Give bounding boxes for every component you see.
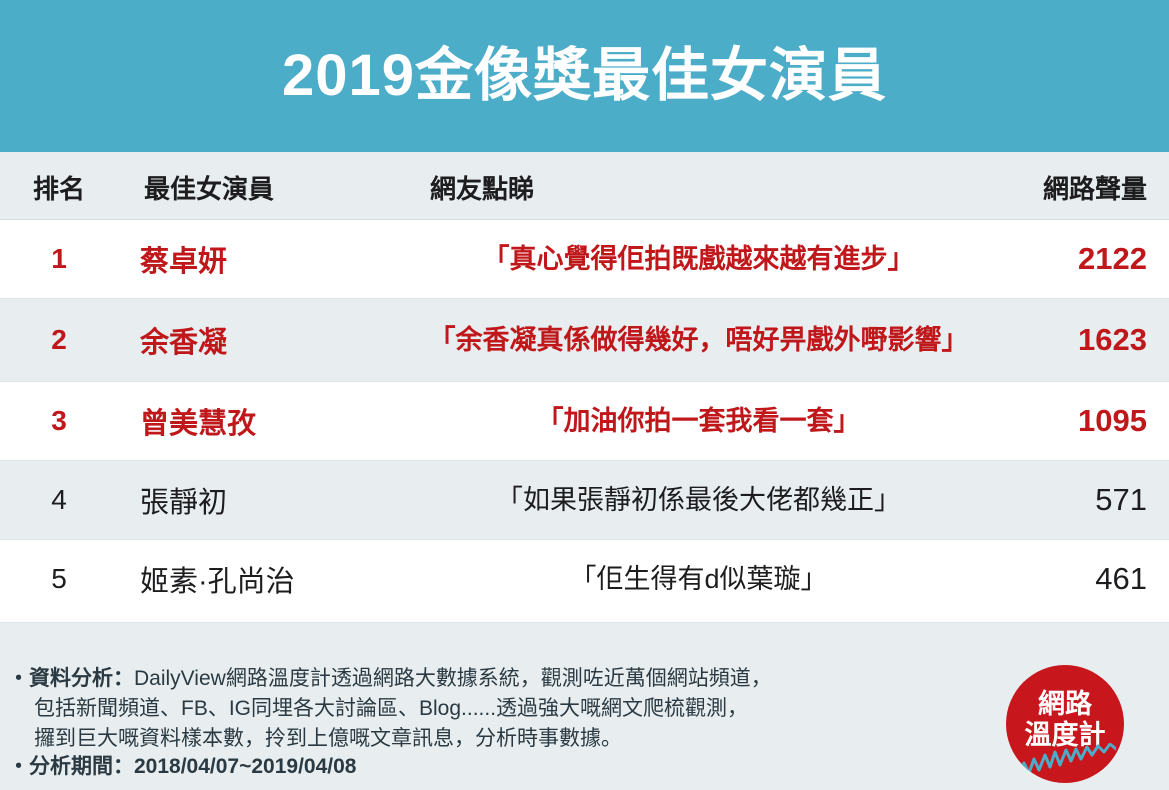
table-row: 4 張靜初 「如果張靜初係最後大佬都幾正」 571: [0, 461, 1169, 540]
column-header-quote: 網友點睇: [400, 169, 999, 206]
cell-buzz: 571: [999, 482, 1169, 518]
cell-name: 姬素·孔尚治: [118, 558, 400, 600]
cell-name: 余香凝: [118, 319, 400, 361]
table-bottom-divider: [0, 616, 1169, 623]
analysis-period-label: ・分析期間：: [8, 755, 134, 778]
cell-rank: 1: [0, 243, 118, 275]
brand-logo: 網路 溫度計: [1006, 665, 1124, 783]
analysis-label: ・資料分析：: [8, 667, 134, 690]
cell-buzz: 1095: [999, 403, 1169, 439]
title-band: 2019金像獎最佳女演員: [0, 0, 1169, 152]
table-header-row: 排名 最佳女演員 網友點睇 網路聲量: [0, 156, 1169, 220]
infographic-page: 2019金像獎最佳女演員 排名 最佳女演員 網友點睇 網路聲量 1 蔡卓妍 「真…: [0, 0, 1169, 790]
cell-rank: 5: [0, 563, 118, 595]
cell-quote: 「如果張靜初係最後大佬都幾正」: [400, 484, 999, 517]
page-title: 2019金像獎最佳女演員: [282, 47, 887, 105]
analysis-line-2: 包括新聞頻道、FB、IG同埋各大討論區、Blog......透過強大嘅網文爬梳觀…: [8, 694, 968, 724]
cell-buzz: 1623: [999, 322, 1169, 358]
ranking-table: 排名 最佳女演員 網友點睇 網路聲量 1 蔡卓妍 「真心覺得佢拍既戲越來越有進步…: [0, 156, 1169, 619]
table-row: 2 余香凝 「余香凝真係做得幾好，唔好畀戲外嘢影響」 1623: [0, 299, 1169, 382]
cell-quote: 「佢生得有d似葉璇」: [400, 563, 999, 596]
cell-rank: 3: [0, 405, 118, 437]
cell-name: 蔡卓妍: [118, 238, 400, 280]
analysis-period-value: 2018/04/07~2019/04/08: [134, 755, 356, 778]
cell-buzz: 461: [999, 561, 1169, 597]
column-header-buzz: 網路聲量: [999, 169, 1169, 206]
cell-name: 張靜初: [118, 479, 400, 521]
cell-quote: 「真心覺得佢拍既戲越來越有進步」: [400, 243, 999, 276]
cell-quote: 「余香凝真係做得幾好，唔好畀戲外嘢影響」: [400, 324, 999, 357]
logo-text-line1: 網路: [1006, 691, 1124, 718]
cell-rank: 2: [0, 324, 118, 356]
column-header-rank: 排名: [0, 169, 118, 206]
cell-quote: 「加油你拍一套我看一套」: [400, 405, 999, 438]
analysis-line-1: ・資料分析：DailyView網路溫度計透過網路大數據系統，觀測咗近萬個網站頻道…: [8, 664, 968, 694]
table-row: 1 蔡卓妍 「真心覺得佢拍既戲越來越有進步」 2122: [0, 220, 1169, 299]
analysis-note: ・資料分析：DailyView網路溫度計透過網路大數據系統，觀測咗近萬個網站頻道…: [8, 664, 968, 753]
cell-name: 曾美慧孜: [118, 400, 400, 442]
analysis-line-3: 攞到巨大嘅資料樣本數，拎到上億嘅文章訊息，分析時事數據。: [8, 724, 968, 754]
table-row: 5 姬素·孔尚治 「佢生得有d似葉璇」 461: [0, 540, 1169, 619]
cell-rank: 4: [0, 484, 118, 516]
analysis-period: ・分析期間：2018/04/07~2019/04/08: [8, 750, 356, 780]
trend-line-icon: [1014, 743, 1116, 777]
table-row: 3 曾美慧孜 「加油你拍一套我看一套」 1095: [0, 382, 1169, 461]
cell-buzz: 2122: [999, 241, 1169, 277]
column-header-name: 最佳女演員: [118, 169, 400, 206]
analysis-text-1: DailyView網路溫度計透過網路大數據系統，觀測咗近萬個網站頻道，: [134, 667, 772, 690]
